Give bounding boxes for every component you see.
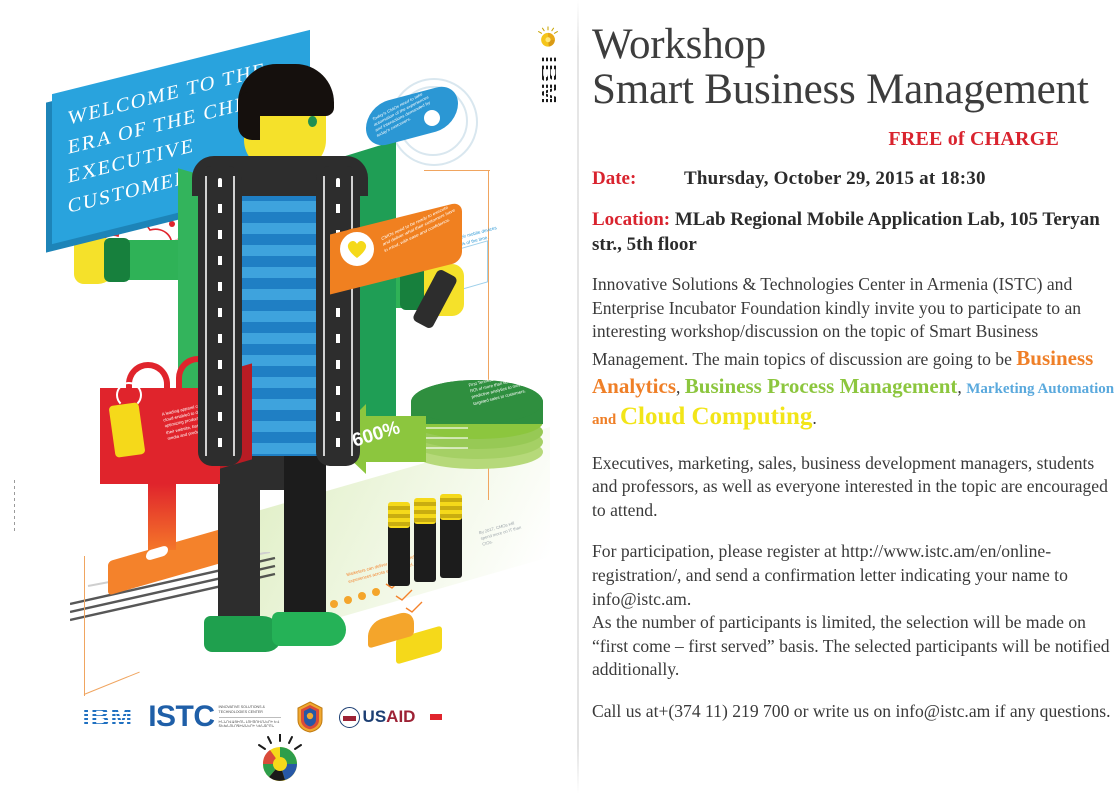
jacket-lapel-left — [198, 166, 242, 466]
contact-paragraph: Call us at+(374 11) 219 700 or write us … — [592, 700, 1115, 724]
connector-horizontal — [424, 170, 490, 171]
ibm-logo: IBM — [83, 702, 134, 733]
connector-left-diagonal — [84, 672, 140, 696]
keyword-sep-2: , — [957, 377, 966, 397]
usaid-logo: USAID — [339, 707, 416, 728]
location-row: Location: MLab Regional Mobile Applicati… — [592, 208, 1115, 257]
poster-root: Welcome to the era of the chief executiv… — [0, 0, 1117, 794]
title-line-1: Workshop — [592, 21, 766, 68]
server-unit-top — [414, 498, 436, 524]
connector-left-vertical — [84, 556, 85, 696]
smarter-planet-globe-icon — [536, 26, 560, 50]
ibm-logo-vertical: IBM — [534, 56, 563, 105]
audience-paragraph: Executives, marketing, sales, business d… — [592, 452, 1115, 523]
road-edge-left — [205, 176, 207, 456]
bottom-spacer — [592, 723, 1115, 745]
eye — [308, 116, 317, 127]
crop-mark — [14, 480, 15, 532]
right-shoe — [272, 612, 346, 646]
left-shoe — [204, 616, 282, 652]
heart-icon — [336, 228, 378, 270]
left-leg — [218, 456, 260, 626]
road-edge-right — [351, 176, 353, 456]
istc-subtitle-hy: ԻՆՆՈՎԱՑԻՈՆ ԼՈՒԾՈՒՄՆԵՐԻ ԵՎ ՏԵԽՆՈԼՈԳԻԱՆԵՐԻ… — [219, 720, 281, 730]
road-dashes — [336, 178, 340, 454]
server-unit — [388, 524, 410, 586]
partner-logo-strip: IBM ISTC INNOVATIVE SOLUTIONS & TECHNOLO… — [0, 700, 578, 734]
eif-logo-mark — [430, 714, 442, 720]
disc-stack-text-wrap: First Tennessee Bank achieved an ROI of … — [404, 366, 550, 476]
istc-rule — [219, 717, 281, 718]
istc-logo-text: ISTC — [148, 700, 214, 734]
road-dashes — [218, 178, 222, 454]
date-value: Thursday, October 29, 2015 at 18:30 — [684, 168, 986, 189]
armenia-coat-of-arms-logo — [296, 701, 324, 733]
keyword-cloud-computing: Cloud Computing — [620, 403, 812, 430]
keyword-marketing-automation: Marketing Automation — [966, 381, 1114, 397]
free-of-charge-badge: FREE of CHARGE — [888, 128, 1059, 150]
date-row: Date:Thursday, October 29, 2015 at 18:30 — [592, 167, 1115, 192]
page-title: Workshop Smart Business Management — [592, 22, 1115, 112]
usaid-logo-text-group: USAID — [363, 708, 416, 726]
illustration-panel: Welcome to the era of the chief executiv… — [0, 0, 578, 794]
usaid-logo-text: USAID — [363, 708, 416, 725]
road-edge-left — [323, 176, 325, 456]
server-unit-top — [388, 502, 410, 528]
eif-logo — [430, 714, 495, 720]
location-label: Location: — [592, 209, 670, 230]
smarter-planet-globe-icon — [252, 734, 308, 786]
hair-sideburn — [238, 92, 260, 140]
intro-text: Innovative Solutions & Technologies Cent… — [592, 274, 1081, 369]
panel-divider — [577, 0, 579, 794]
ibm-logo-text: IBM — [83, 702, 134, 733]
date-label: Date: — [592, 167, 684, 192]
server-unit — [440, 516, 462, 578]
keyword-business-process-management: Business Process Management — [685, 374, 958, 398]
registration-paragraph: For participation, please register at ht… — [592, 540, 1115, 681]
istc-logo-subtitle: INNOVATIVE SOLUTIONS & TECHNOLOGIES CENT… — [219, 705, 281, 729]
keyword-sep-1: , — [676, 377, 685, 397]
keyword-conjunction: and — [592, 412, 620, 428]
road-edge-right — [233, 176, 235, 456]
istc-subtitle-en: INNOVATIVE SOLUTIONS & TECHNOLOGIES CENT… — [219, 705, 281, 715]
intro-paragraph: Innovative Solutions & Technologies Cent… — [592, 273, 1115, 433]
content-panel: IBM Workshop Smart Business Management F… — [578, 0, 1117, 794]
server-unit — [414, 520, 436, 582]
ibm-brand-column: IBM — [531, 26, 565, 105]
server-rack-group: By 2017, CMOs will spend more on IT than… — [388, 500, 498, 586]
left-cuff — [104, 238, 130, 282]
free-of-charge-row: FREE of CHARGE — [592, 128, 1115, 151]
jacket-lapel-right — [316, 166, 360, 466]
lens-pupil — [424, 110, 440, 126]
keyword-period: . — [812, 408, 816, 428]
usaid-seal-icon — [339, 707, 360, 728]
right-leg — [284, 456, 326, 626]
istc-logo: ISTC INNOVATIVE SOLUTIONS & TECHNOLOGIES… — [148, 700, 280, 734]
title-line-2: Smart Business Management — [592, 67, 1115, 112]
stat-600-caption: First Tennessee Bank achieved an ROI of … — [468, 366, 542, 407]
bag-stem — [148, 484, 176, 550]
server-unit-top — [440, 494, 462, 520]
